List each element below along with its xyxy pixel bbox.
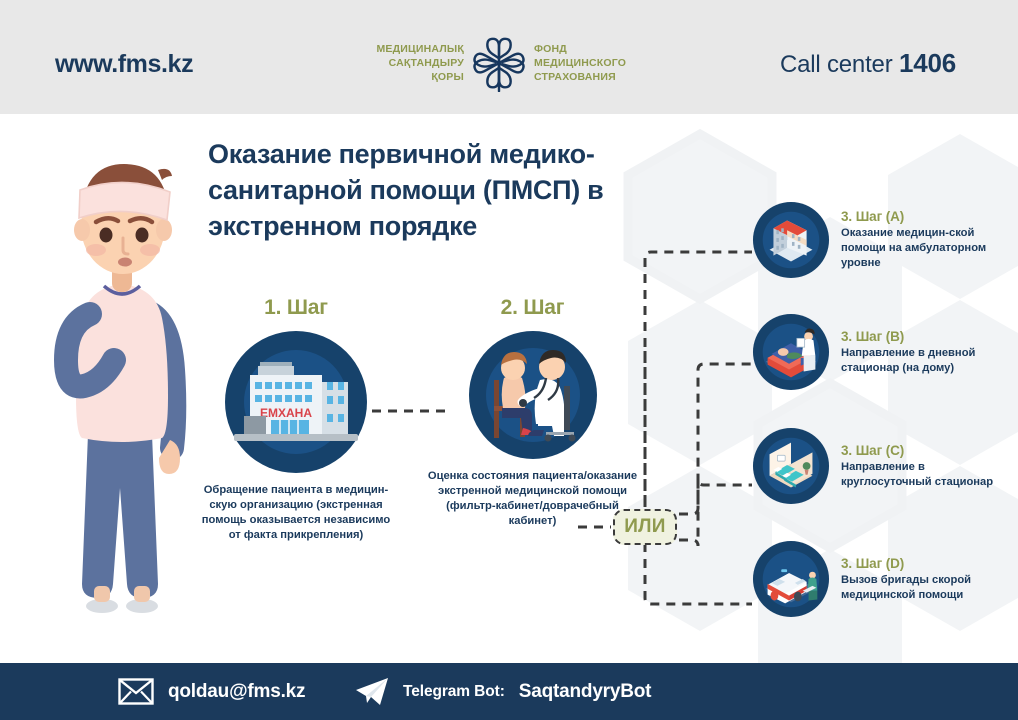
logo-kazakh-line-1: МЕДИЦИНАЛЫҚ: [358, 43, 464, 57]
hexagon-flower-logo-icon: [473, 36, 525, 92]
isometric-hospital-building-icon: [752, 201, 830, 279]
branch-c-heading: 3. Шаг (C): [841, 443, 1014, 458]
step-1-caption: Обращение пациента в медицин-скую органи…: [196, 483, 396, 543]
logo-text-russian: ФОНД МЕДИЦИНСКОГО СТРАХОВАНИЯ: [534, 43, 652, 85]
home-care-patient-on-couch-icon: [752, 313, 830, 391]
header-bar: www.fms.kz МЕДИЦИНАЛЫҚ САҚТАНДЫРУ ҚОРЫ: [0, 0, 1018, 114]
step-2: 2. Шаг: [425, 296, 640, 529]
logo-russian-line-2: МЕДИЦИНСКОГО: [534, 57, 652, 71]
site-url[interactable]: www.fms.kz: [55, 50, 193, 79]
branch-b-body: Направление в дневной стационар (на дому…: [841, 346, 1014, 376]
branch-b-text: 3. Шаг (B) Направление в дневной стацион…: [841, 329, 1014, 376]
logo-kazakh-line-3: ҚОРЫ: [358, 71, 464, 85]
doctor-examining-patient-icon: [468, 330, 598, 460]
logo-kazakh-line-2: САҚТАНДЫРУ: [358, 57, 464, 71]
branch-b: 3. Шаг (B) Направление в дневной стацион…: [752, 306, 1014, 398]
sick-patient-with-head-bandage-illustration: [30, 134, 210, 654]
telegram-contact[interactable]: Telegram Bot: SaqtandyryBot: [355, 677, 651, 707]
connector-or-to-c: [679, 479, 752, 546]
step-1: 1. Шаг: [196, 296, 396, 543]
logo-russian-line-1: ФОНД: [534, 43, 652, 57]
branch-d-heading: 3. Шаг (D): [841, 556, 1014, 571]
main-canvas: Оказание первичной медико-санитарной пом…: [0, 114, 1018, 663]
branch-a: 3. Шаг (A) Оказание медицин-ской помощи …: [752, 194, 1014, 286]
call-center-label: Call center: [780, 51, 893, 78]
branch-a-body: Оказание медицин-ской помощи на амбулато…: [841, 226, 1014, 271]
step-1-heading: 1. Шаг: [196, 296, 396, 320]
call-center-info: Call center 1406: [780, 48, 956, 79]
step-2-heading: 2. Шаг: [425, 296, 640, 320]
brand-logo: МЕДИЦИНАЛЫҚ САҚТАНДЫРУ ҚОРЫ Ф: [355, 36, 655, 92]
email-contact[interactable]: qoldau@fms.kz: [118, 678, 305, 705]
email-address[interactable]: qoldau@fms.kz: [168, 681, 305, 703]
or-connector-badge: ИЛИ: [613, 509, 677, 545]
branch-d-body: Вызов бригады скорой медицинской помощи: [841, 573, 1014, 603]
logo-text-kazakh: МЕДИЦИНАЛЫҚ САҚТАНДЫРУ ҚОРЫ: [358, 43, 464, 85]
telegram-handle[interactable]: SaqtandyryBot: [519, 681, 652, 703]
branch-a-text: 3. Шаг (A) Оказание медицин-ской помощи …: [841, 209, 1014, 271]
infographic-page: www.fms.kz МЕДИЦИНАЛЫҚ САҚТАНДЫРУ ҚОРЫ: [0, 0, 1018, 720]
hospital-ward-beds-icon: [752, 427, 830, 505]
connector-or-to-b: [679, 364, 752, 514]
branch-c-body: Направление в круглосуточный стационар: [841, 460, 1014, 490]
ambulance-icon: [752, 540, 830, 618]
page-title: Оказание первичной медико-санитарной пом…: [208, 137, 648, 245]
call-center-number[interactable]: 1406: [899, 48, 956, 78]
branch-c: 3. Шаг (C) Направление в круглосуточный …: [752, 420, 1014, 512]
branch-c-text: 3. Шаг (C) Направление в круглосуточный …: [841, 443, 1014, 490]
telegram-paper-plane-icon: [355, 677, 389, 707]
clinic-sign-text: ЕМХАНА: [260, 406, 312, 420]
branch-d: 3. Шаг (D) Вызов бригады скорой медицинс…: [752, 533, 1014, 625]
envelope-icon: [118, 678, 154, 705]
branch-b-heading: 3. Шаг (B): [841, 329, 1014, 344]
step-2-caption: Оценка состояния пациента/оказание экстр…: [425, 469, 640, 529]
clinic-building-icon: ЕМХАНА: [224, 330, 368, 474]
footer-bar: qoldau@fms.kz Telegram Bot: SaqtandyryBo…: [0, 663, 1018, 720]
branch-d-text: 3. Шаг (D) Вызов бригады скорой медицинс…: [841, 556, 1014, 603]
logo-russian-line-3: СТРАХОВАНИЯ: [534, 71, 652, 85]
telegram-label: Telegram Bot:: [403, 683, 505, 701]
branch-a-heading: 3. Шаг (A): [841, 209, 1014, 224]
